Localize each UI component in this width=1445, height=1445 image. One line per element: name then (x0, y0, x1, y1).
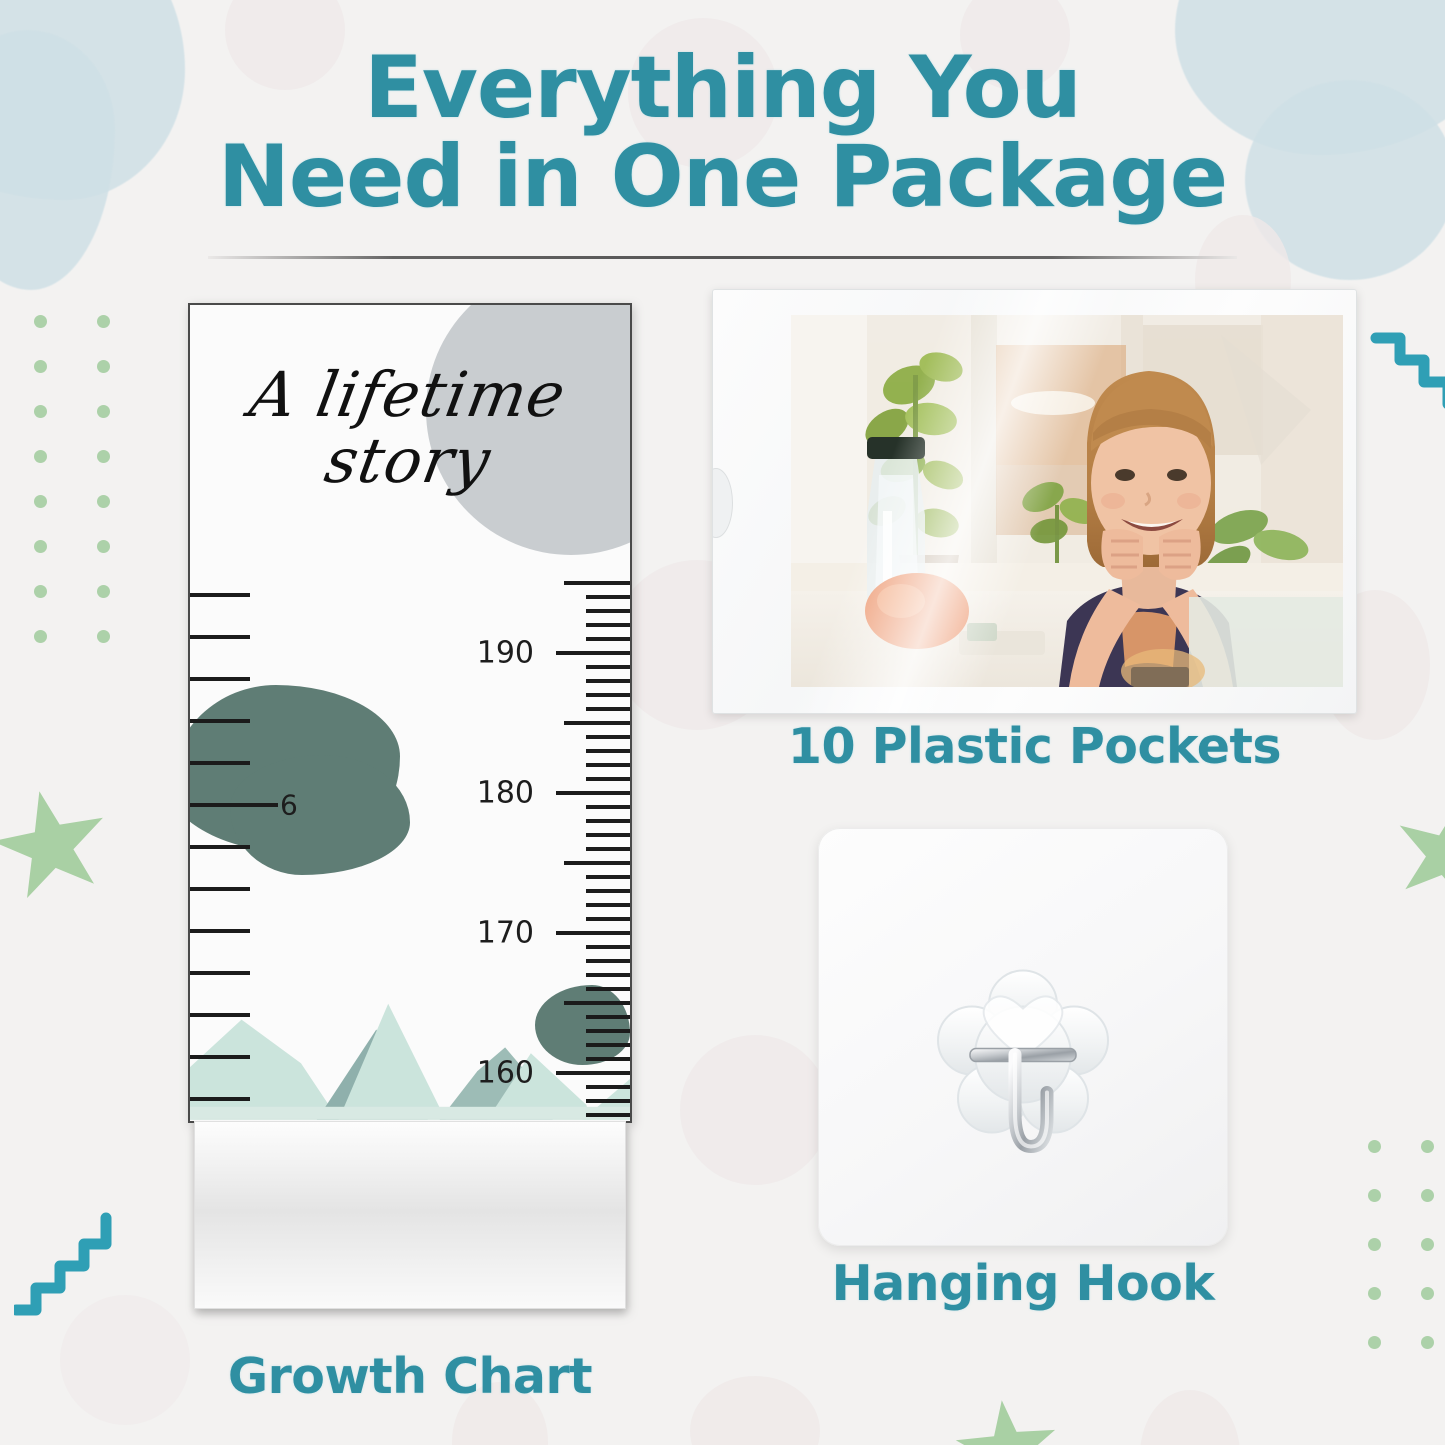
green-star-bottom (950, 1395, 1064, 1445)
title-line-2: Need in One Package (0, 133, 1445, 222)
infographic-canvas: Everything You Need in One Package (0, 0, 1445, 1445)
ruler-feet-label-6: 6 (280, 789, 298, 822)
ruler-cm-label-190: 190 (477, 636, 534, 671)
caption-hanging-hook: Hanging Hook (818, 1255, 1228, 1312)
dot-grid-bottom-right (1368, 1140, 1434, 1349)
ruler-cm-label-180: 180 (477, 776, 534, 811)
pale-oval (690, 1376, 820, 1445)
hook-illustration (918, 963, 1128, 1178)
teal-zigzag-top-right (1368, 322, 1445, 459)
caption-plastic-pockets: 10 Plastic Pockets (712, 718, 1357, 775)
pale-circle (680, 1035, 830, 1185)
page-title: Everything You Need in One Package (0, 44, 1445, 221)
plastic-pocket-product (712, 289, 1357, 714)
title-divider (208, 256, 1237, 259)
child-photo (791, 315, 1343, 687)
ruler-ticks-left (190, 305, 270, 1121)
ruler-cm-label-160: 160 (477, 1056, 534, 1091)
pale-oval (1140, 1390, 1240, 1445)
title-line-1: Everything You (0, 44, 1445, 133)
growth-chart-rolled-bottom (194, 1121, 626, 1309)
hanging-hook-product (818, 828, 1228, 1246)
teal-zigzag-bottom-left (14, 1192, 136, 1327)
ruler-cm-label-170: 170 (477, 916, 534, 951)
green-star-right (1381, 788, 1445, 919)
green-star-left (0, 779, 120, 913)
caption-growth-chart: Growth Chart (188, 1348, 632, 1405)
growth-chart-product: A lifetime story 6 (188, 303, 632, 1313)
header: Everything You Need in One Package (0, 44, 1445, 221)
pocket-thumb-notch (712, 468, 733, 538)
growth-chart-panel: A lifetime story 6 (188, 303, 632, 1123)
ruler-ticks-right (540, 305, 630, 1121)
dot-grid-left (34, 315, 110, 643)
